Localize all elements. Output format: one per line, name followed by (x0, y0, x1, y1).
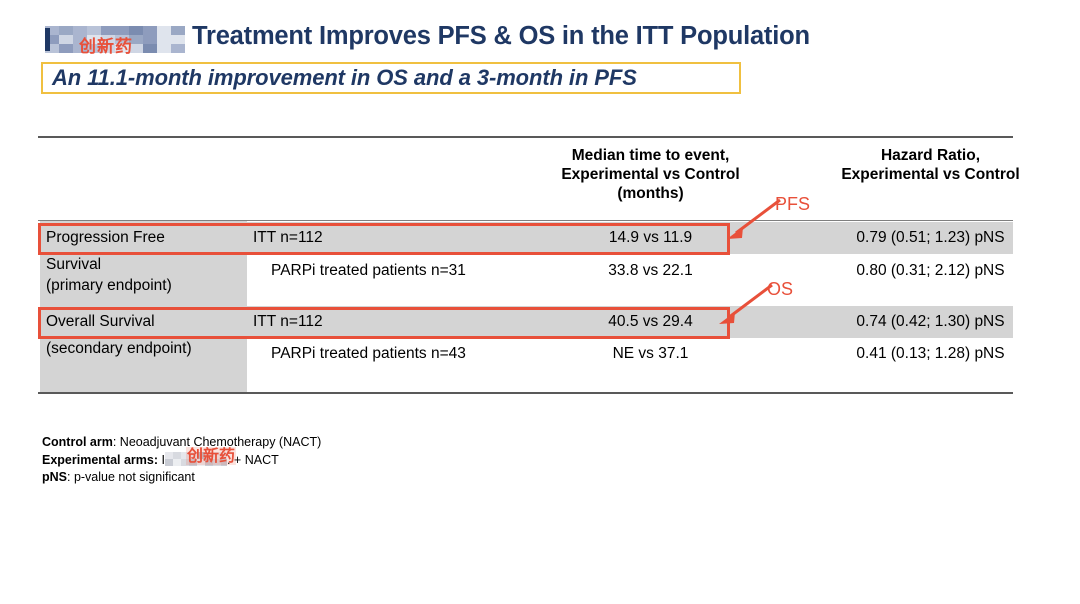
hazard-header-line2: Experimental vs Control (808, 165, 1053, 184)
table-bottom-rule (38, 392, 1013, 394)
row-hazard-pfs-itt: 0.79 (0.51; 1.23) pNS (808, 229, 1053, 247)
footnote-pns-value: : p-value not significant (67, 470, 195, 484)
footnote-pns: pNS: p-value not significant (42, 469, 321, 487)
footnote-experimental-prefix: I (158, 453, 165, 467)
median-header-line1: Median time to event, (523, 146, 778, 165)
row-population-pfs-parpi: PARPi treated patients n=31 (271, 262, 466, 280)
annotation-label-os: OS (767, 279, 793, 300)
column-header-median-time: Median time to event, Experimental vs Co… (523, 146, 778, 203)
row-label-pfs-line2: Survival (46, 256, 101, 274)
table-top-rule (38, 136, 1013, 138)
footnote-control-arm-key: Control arm (42, 435, 113, 449)
row-population-os-itt: ITT n=112 (253, 313, 323, 331)
watermark-footnote: 创新药 (186, 447, 236, 465)
row-label-os-line1: Overall Survival (46, 313, 155, 331)
row-median-os-parpi: NE vs 37.1 (523, 345, 778, 363)
row-label-pfs-line3: (primary endpoint) (46, 277, 172, 295)
column-header-hazard-ratio: Hazard Ratio, Experimental vs Control (808, 146, 1053, 184)
footnote-pns-key: pNS (42, 470, 67, 484)
row-label-os-line2: (secondary endpoint) (46, 340, 192, 358)
row-label-pfs-line1: Progression Free (46, 229, 165, 247)
row-median-pfs-parpi: 33.8 vs 22.1 (523, 262, 778, 280)
median-header-line2: Experimental vs Control (523, 165, 778, 184)
slide-title-row: Treatment Improves PFS & OS in the ITT P… (0, 22, 1080, 60)
footnote-experimental-arms: Experimental arms: I. + NACT (42, 452, 321, 470)
footnote-control-arm: Control arm: Neoadjuvant Chemotherapy (N… (42, 434, 321, 452)
page-title: Treatment Improves PFS & OS in the ITT P… (192, 22, 810, 51)
footnotes-block: Control arm: Neoadjuvant Chemotherapy (N… (42, 434, 321, 487)
results-table: Median time to event, Experimental vs Co… (38, 136, 1013, 394)
subtitle-callout-box: An 11.1-month improvement in OS and a 3-… (41, 62, 741, 94)
row-population-os-parpi: PARPi treated patients n=43 (271, 345, 466, 363)
row-hazard-os-itt: 0.74 (0.42; 1.30) pNS (808, 313, 1053, 331)
row-population-pfs-itt: ITT n=112 (253, 229, 323, 247)
row-hazard-os-parpi: 0.41 (0.13; 1.28) pNS (808, 345, 1053, 363)
footnote-experimental-arms-key: Experimental arms: (42, 453, 158, 467)
subtitle-text: An 11.1-month improvement in OS and a 3-… (52, 65, 637, 91)
hazard-header-line1: Hazard Ratio, (808, 146, 1053, 165)
annotation-label-pfs: PFS (775, 194, 810, 215)
row-hazard-pfs-parpi: 0.80 (0.31; 2.12) pNS (808, 262, 1053, 280)
watermark-title: 创新药 (79, 32, 133, 57)
